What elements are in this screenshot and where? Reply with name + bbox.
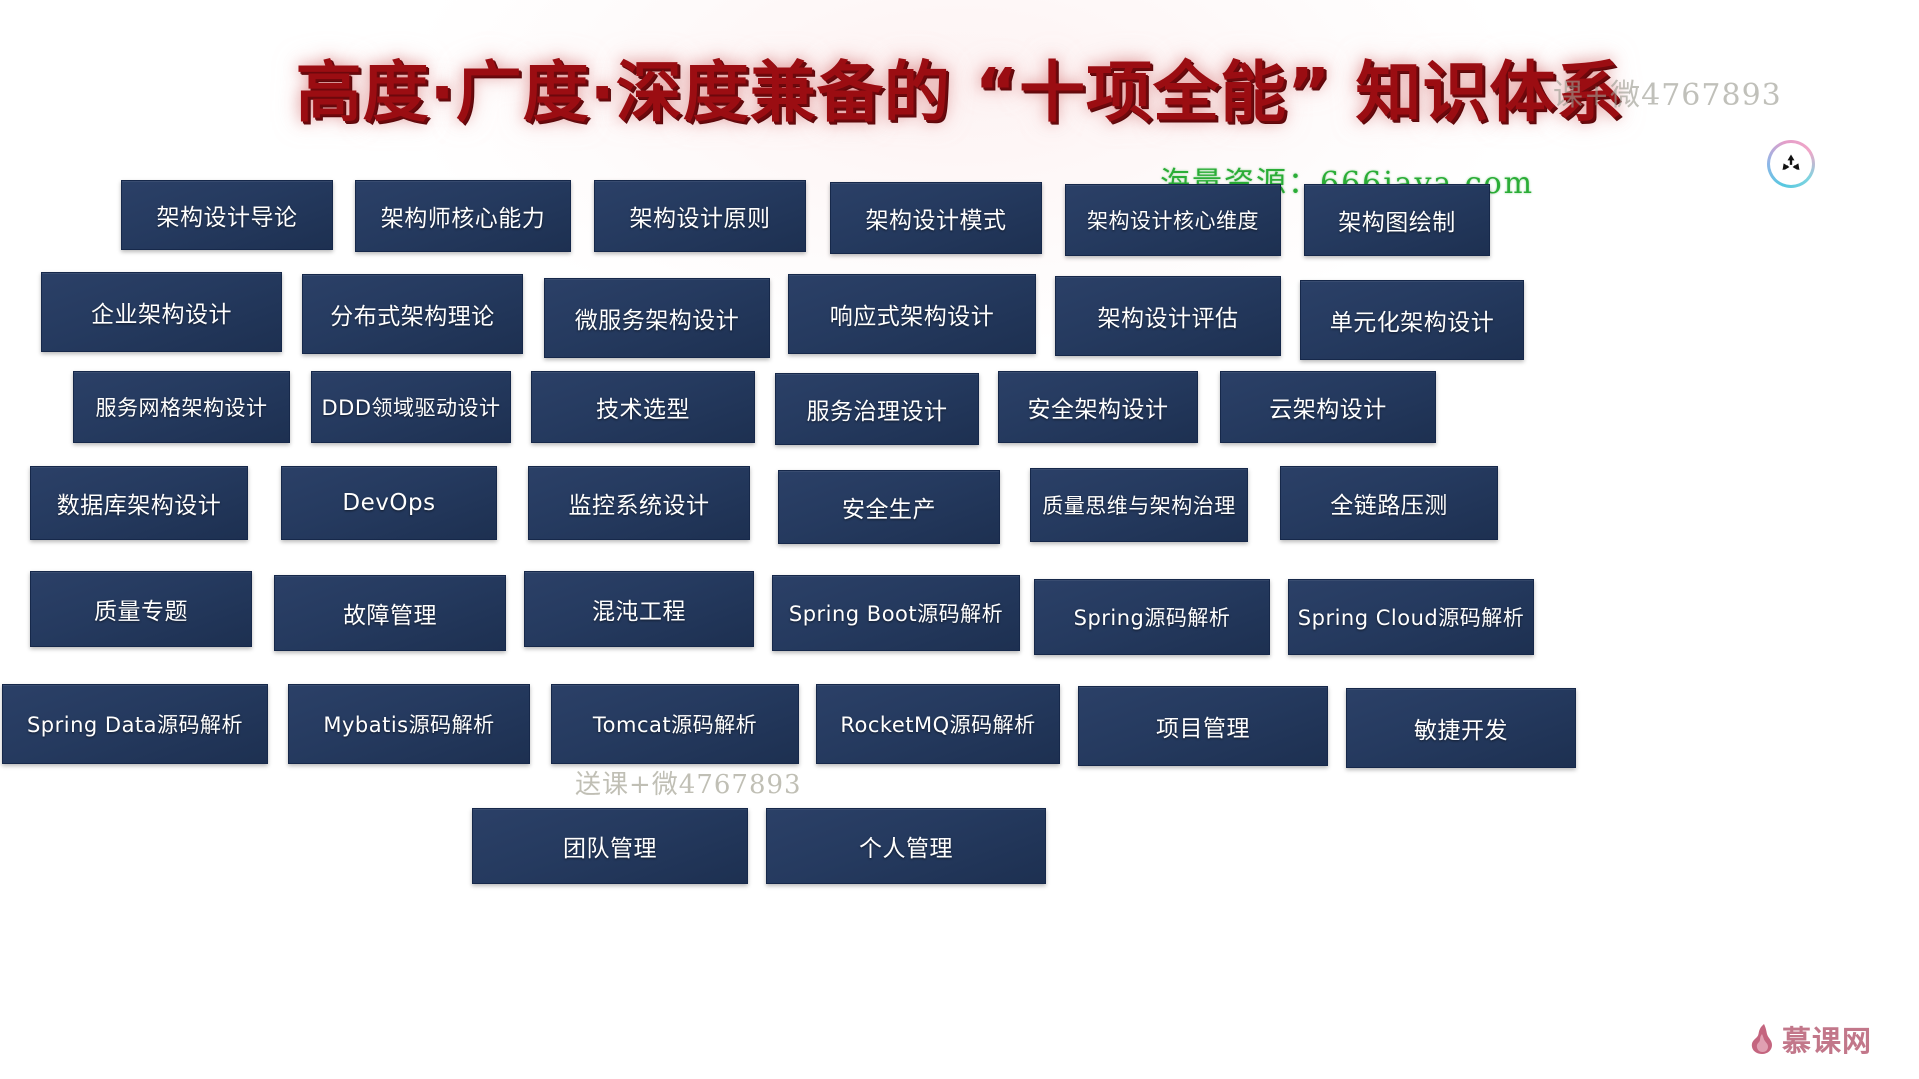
topic-box[interactable]: Spring源码解析 xyxy=(1034,579,1270,655)
topic-box-label: Spring Cloud源码解析 xyxy=(1298,602,1524,632)
topic-box[interactable]: RocketMQ源码解析 xyxy=(816,684,1060,764)
topic-box[interactable]: 团队管理 xyxy=(472,808,748,884)
topic-box[interactable]: 数据库架构设计 xyxy=(30,466,248,540)
topic-box[interactable]: DevOps xyxy=(281,466,497,540)
topic-box[interactable]: 架构设计核心维度 xyxy=(1065,184,1281,256)
topic-box[interactable]: 全链路压测 xyxy=(1280,466,1498,540)
topic-box-label: 项目管理 xyxy=(1156,709,1250,743)
topic-box[interactable]: 响应式架构设计 xyxy=(788,274,1036,354)
topic-box-label: 单元化架构设计 xyxy=(1330,303,1495,337)
watermark-top: 课+微4767893 xyxy=(1553,70,1782,114)
topic-box-label: Mybatis源码解析 xyxy=(323,709,494,739)
topic-box[interactable]: 微服务架构设计 xyxy=(544,278,770,358)
topic-box-label: 架构图绘制 xyxy=(1338,203,1456,237)
topic-box-label: 质量专题 xyxy=(94,592,188,626)
topic-box[interactable]: DDD领域驱动设计 xyxy=(311,371,511,443)
mukewang-label: 慕课网 xyxy=(1782,1018,1872,1060)
topic-box-label: 响应式架构设计 xyxy=(830,297,995,331)
topic-box[interactable]: 云架构设计 xyxy=(1220,371,1436,443)
topic-box[interactable]: 敏捷开发 xyxy=(1346,688,1576,768)
page-title: 高度·广度·深度兼备的 “十项全能” 知识体系 xyxy=(296,58,1624,127)
topic-box-label: DDD领域驱动设计 xyxy=(321,392,500,422)
topic-box[interactable]: Tomcat源码解析 xyxy=(551,684,799,764)
topic-box[interactable]: 架构图绘制 xyxy=(1304,184,1490,256)
topic-box[interactable]: 架构设计原则 xyxy=(594,180,806,252)
topic-box-label: 敏捷开发 xyxy=(1414,711,1508,745)
topic-box[interactable]: 监控系统设计 xyxy=(528,466,750,540)
topic-box[interactable]: 架构设计导论 xyxy=(121,180,333,250)
topic-box-label: 架构设计核心维度 xyxy=(1087,205,1259,235)
topic-box-label: 分布式架构理论 xyxy=(330,297,495,331)
topic-box-label: 架构设计模式 xyxy=(866,201,1007,235)
topic-box-label: Tomcat源码解析 xyxy=(593,709,757,739)
topic-box-label: 监控系统设计 xyxy=(569,486,710,520)
topic-box-label: 架构设计导论 xyxy=(157,198,298,232)
topic-box[interactable]: 架构师核心能力 xyxy=(355,180,571,252)
topic-box-label: 云架构设计 xyxy=(1269,390,1387,424)
topic-box-label: 微服务架构设计 xyxy=(575,301,740,335)
topic-box[interactable]: 混沌工程 xyxy=(524,571,754,647)
tri-arrow-logo-icon xyxy=(1767,140,1815,188)
topic-box-label: 架构设计评估 xyxy=(1098,299,1239,333)
topic-box-label: 服务网格架构设计 xyxy=(96,392,268,422)
topic-box-label: 技术选型 xyxy=(596,390,690,424)
topic-box-label: DevOps xyxy=(342,490,435,516)
topic-box[interactable]: Spring Cloud源码解析 xyxy=(1288,579,1534,655)
topic-box[interactable]: 服务治理设计 xyxy=(775,373,979,445)
topic-box-label: 数据库架构设计 xyxy=(57,486,222,520)
topic-box-label: 混沌工程 xyxy=(592,592,686,626)
topic-box[interactable]: 架构设计模式 xyxy=(830,182,1042,254)
topic-box-label: 安全架构设计 xyxy=(1028,390,1169,424)
watermark-bottom: 送课+微4767893 xyxy=(575,764,802,801)
topic-box-label: RocketMQ源码解析 xyxy=(840,709,1035,739)
topic-box-label: 架构师核心能力 xyxy=(381,199,546,233)
topic-box[interactable]: 企业架构设计 xyxy=(41,272,282,352)
topic-box[interactable]: 质量专题 xyxy=(30,571,252,647)
topic-box[interactable]: 项目管理 xyxy=(1078,686,1328,766)
topic-box-label: 企业架构设计 xyxy=(91,295,232,329)
topic-box-label: 质量思维与架构治理 xyxy=(1042,490,1236,520)
topic-box[interactable]: 质量思维与架构治理 xyxy=(1030,468,1248,542)
flame-icon xyxy=(1748,1023,1776,1055)
topic-box-label: Spring Boot源码解析 xyxy=(789,598,1003,628)
topic-box-label: 服务治理设计 xyxy=(807,392,948,426)
topic-box-label: 团队管理 xyxy=(563,829,657,863)
topic-box-label: 个人管理 xyxy=(859,829,953,863)
topic-box[interactable]: Spring Boot源码解析 xyxy=(772,575,1020,651)
topic-box-label: 架构设计原则 xyxy=(630,199,771,233)
topic-box[interactable]: Mybatis源码解析 xyxy=(288,684,530,764)
topic-box[interactable]: 单元化架构设计 xyxy=(1300,280,1524,360)
topic-box-label: Spring源码解析 xyxy=(1074,602,1231,632)
topic-box[interactable]: 架构设计评估 xyxy=(1055,276,1281,356)
slide-canvas: 高度·广度·深度兼备的 “十项全能” 知识体系 海量资源：666java.com… xyxy=(0,0,1919,1079)
mukewang-brand-logo: 慕课网 xyxy=(1748,1018,1872,1060)
topic-box[interactable]: 技术选型 xyxy=(531,371,755,443)
topic-box-label: 故障管理 xyxy=(343,596,437,630)
topic-box-label: Spring Data源码解析 xyxy=(27,709,243,739)
topic-box[interactable]: 分布式架构理论 xyxy=(302,274,523,354)
topic-box[interactable]: 安全生产 xyxy=(778,470,1000,544)
topic-box[interactable]: Spring Data源码解析 xyxy=(2,684,268,764)
topic-box-label: 安全生产 xyxy=(842,490,936,524)
topic-box[interactable]: 服务网格架构设计 xyxy=(73,371,290,443)
topic-box[interactable]: 故障管理 xyxy=(274,575,506,651)
topic-box[interactable]: 个人管理 xyxy=(766,808,1046,884)
topic-box[interactable]: 安全架构设计 xyxy=(998,371,1198,443)
topic-box-label: 全链路压测 xyxy=(1330,486,1448,520)
